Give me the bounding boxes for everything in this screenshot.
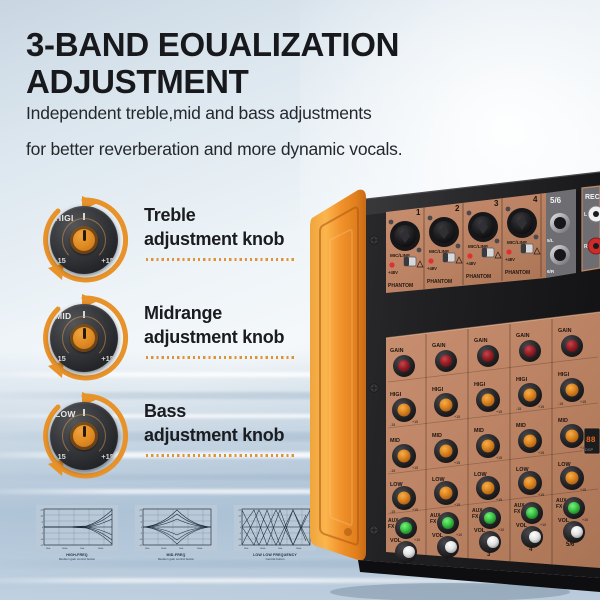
svg-text:5/6: 5/6 — [566, 542, 575, 548]
treble-knob[interactable]: HIGI -15 +15 — [50, 206, 118, 274]
svg-text:3: 3 — [494, 199, 499, 208]
svg-text:10kHz: 10kHz — [197, 548, 202, 550]
treble-knob-min-label: -15 — [55, 256, 66, 265]
svg-text:1kHz: 1kHz — [80, 548, 84, 550]
svg-text:10kHz: 10kHz — [98, 548, 103, 550]
svg-text:-10: -10 — [238, 539, 241, 541]
svg-text:1kHz: 1kHz — [179, 548, 183, 550]
eq-figure-high-caption1: HIGH-FREQ — [36, 553, 118, 557]
mixer-illustration: 1 2 3 4 MIC/LINE MIC/LINE MIC/LINE MIC/L… — [300, 160, 600, 600]
mixer-stereo-label: 5/6 — [550, 196, 562, 205]
svg-text:MID: MID — [516, 423, 526, 429]
svg-text:FX: FX — [388, 524, 395, 530]
svg-text:+15: +15 — [496, 456, 502, 460]
eq-chart-high: +15 +10 +5 0 -5 -10 -15 20Hz 100Hz 1kHz … — [36, 505, 118, 551]
callout-bass-label-line2: adjustment knob — [144, 424, 319, 448]
svg-text:+48V: +48V — [505, 257, 515, 262]
svg-text:+15: +15 — [496, 498, 502, 502]
svg-text:-10: -10 — [40, 539, 43, 541]
bass-knob-illustration: LOW -15 +15 — [36, 388, 132, 484]
bass-knob[interactable]: LOW -15 +15 — [50, 402, 118, 470]
svg-text:HIGI: HIGI — [474, 382, 486, 388]
callout-bass-label: Bass adjustment knob — [144, 400, 319, 448]
eq-figure-high-caption2: Medium gain control button — [36, 557, 118, 561]
svg-text:88: 88 — [586, 436, 596, 445]
svg-text:100Hz: 100Hz — [161, 548, 167, 550]
svg-text:-15: -15 — [390, 469, 395, 473]
svg-text:-5: -5 — [140, 533, 142, 535]
svg-text:+15: +15 — [580, 400, 586, 404]
callout-midrange: MID -15 +15 Midrange adjustment knob — [36, 290, 316, 386]
svg-text:+15: +15 — [40, 509, 43, 511]
eq-response-figures: +15 +10 +5 0 -5 -10 -15 20Hz 100Hz 1kHz … — [36, 505, 316, 573]
svg-text:PHANTOM: PHANTOM — [427, 279, 452, 285]
svg-text:+15: +15 — [580, 488, 586, 492]
callout-bass-label-line1: Bass — [144, 400, 319, 424]
svg-text:+10: +10 — [498, 528, 504, 532]
svg-text:+15: +15 — [496, 410, 502, 414]
mixer-rec-label: REC — [585, 194, 600, 201]
svg-text:6/R: 6/R — [547, 269, 555, 274]
callout-treble: HIGI -15 +15 Treble adjustment knob — [36, 192, 316, 288]
eq-figure-mid-caption2: Medium gain control button — [135, 557, 217, 561]
svg-text:PHANTOM: PHANTOM — [505, 270, 530, 276]
svg-text:L: L — [584, 212, 587, 218]
page-title: 3-BAND EOUALIZATION ADJUSTMENT — [26, 26, 496, 101]
svg-text:20Hz: 20Hz — [145, 548, 149, 550]
svg-text:4: 4 — [533, 195, 538, 204]
mixer-dsp-display: 88 DSP — [584, 428, 600, 454]
mixer-dsp-label: DSP — [585, 447, 594, 452]
svg-text:MID: MID — [432, 433, 442, 439]
svg-text:HIGI: HIGI — [432, 387, 444, 393]
svg-text:100Hz: 100Hz — [260, 548, 266, 550]
callout-midrange-label: Midrange adjustment knob — [144, 302, 319, 350]
svg-text:-15: -15 — [390, 510, 395, 514]
svg-text:MID: MID — [558, 418, 568, 424]
svg-text:FX: FX — [430, 519, 437, 525]
svg-text:-15: -15 — [139, 545, 142, 547]
svg-text:-5: -5 — [41, 533, 43, 535]
midrange-knob-min-label: -15 — [55, 354, 66, 363]
svg-text:+5: +5 — [239, 521, 241, 523]
svg-text:+10: +10 — [456, 533, 462, 537]
svg-text:+10: +10 — [414, 538, 420, 542]
svg-text:+10: +10 — [540, 523, 546, 527]
svg-text:HIGI: HIGI — [558, 372, 570, 378]
audio-mixer-product: 1 2 3 4 MIC/LINE MIC/LINE MIC/LINE MIC/L… — [300, 160, 600, 600]
svg-text:-15: -15 — [390, 423, 395, 427]
svg-text:+15: +15 — [454, 461, 460, 465]
svg-text:1kHz: 1kHz — [278, 548, 282, 550]
svg-text:+5: +5 — [41, 521, 43, 523]
eq-figure-mid-caption1: MID-FREQ — [135, 553, 217, 557]
bass-knob-max-label: +15 — [101, 452, 114, 461]
svg-text:0: 0 — [240, 527, 241, 529]
callout-bass-underline — [146, 454, 294, 457]
svg-text:+48V: +48V — [427, 266, 437, 271]
svg-text:+15: +15 — [412, 508, 418, 512]
svg-text:-5: -5 — [239, 533, 241, 535]
treble-knob-illustration: HIGI -15 +15 — [36, 192, 132, 288]
bass-knob-min-label: -15 — [55, 452, 66, 461]
subtitle-line-2: for better reverberation and more dynami… — [26, 139, 476, 160]
svg-text:+15: +15 — [454, 503, 460, 507]
midrange-knob[interactable]: MID -15 +15 — [50, 304, 118, 372]
svg-text:+15: +15 — [238, 509, 241, 511]
svg-text:+5: +5 — [140, 521, 142, 523]
svg-text:FX: FX — [514, 509, 521, 515]
promo-image-stage: 3-BAND EOUALIZATION ADJUSTMENT Independe… — [0, 0, 600, 600]
svg-text:GAIN: GAIN — [516, 333, 530, 339]
subtitle-line-1: Independent treble,mid and bass adjustme… — [26, 103, 466, 124]
svg-text:PHANTOM: PHANTOM — [466, 274, 491, 280]
svg-text:0: 0 — [42, 527, 43, 529]
svg-text:5/L: 5/L — [547, 238, 554, 243]
svg-text:PHANTOM: PHANTOM — [388, 283, 413, 289]
midrange-knob-band-label: MID — [55, 311, 71, 321]
callout-midrange-label-line2: adjustment knob — [144, 326, 319, 350]
callout-treble-underline — [146, 258, 294, 261]
svg-text:-15: -15 — [40, 545, 43, 547]
svg-text:MID: MID — [390, 438, 400, 444]
svg-text:HIGI: HIGI — [390, 392, 402, 398]
svg-text:-10: -10 — [139, 539, 142, 541]
svg-text:+15: +15 — [412, 466, 418, 470]
callout-treble-label-line2: adjustment knob — [144, 228, 319, 252]
svg-text:+15: +15 — [454, 415, 460, 419]
svg-text:-15: -15 — [238, 545, 241, 547]
midrange-knob-illustration: MID -15 +15 — [36, 290, 132, 386]
svg-text:GAIN: GAIN — [474, 338, 488, 344]
callout-midrange-label-line1: Midrange — [144, 302, 319, 326]
svg-text:+15: +15 — [538, 493, 544, 497]
eq-chart-mid: +15 +10 +5 0 -5 -10 -15 20Hz100Hz 1kHz10… — [135, 505, 217, 551]
eq-figure-mid: +15 +10 +5 0 -5 -10 -15 20Hz100Hz 1kHz10… — [135, 505, 217, 561]
svg-text:20Hz: 20Hz — [244, 548, 248, 550]
eq-figure-high: +15 +10 +5 0 -5 -10 -15 20Hz 100Hz 1kHz … — [36, 505, 118, 561]
svg-text:+10: +10 — [582, 518, 588, 522]
svg-text:+10: +10 — [238, 515, 241, 517]
bass-knob-cap — [70, 422, 98, 450]
callout-treble-label: Treble adjustment knob — [144, 204, 319, 252]
svg-text:-15: -15 — [558, 402, 563, 406]
treble-knob-cap — [70, 226, 98, 254]
svg-text:+10: +10 — [139, 515, 142, 517]
svg-text:MID: MID — [474, 428, 484, 434]
svg-text:-15: -15 — [516, 407, 521, 411]
svg-text:HIGI: HIGI — [516, 377, 528, 383]
callout-bass: LOW -15 +15 Bass adjustment knob — [36, 388, 316, 484]
svg-text:FX: FX — [472, 514, 479, 520]
svg-text:+15: +15 — [538, 451, 544, 455]
svg-text:+48V: +48V — [466, 261, 476, 266]
svg-text:0: 0 — [141, 527, 142, 529]
svg-text:+15: +15 — [139, 509, 142, 511]
svg-text:20Hz: 20Hz — [46, 548, 50, 550]
svg-text:+10: +10 — [40, 515, 43, 517]
svg-text:GAIN: GAIN — [390, 348, 404, 354]
svg-text:+48V: +48V — [388, 270, 398, 275]
midrange-knob-cap — [70, 324, 98, 352]
callout-treble-label-line1: Treble — [144, 204, 319, 228]
midrange-knob-max-label: +15 — [101, 354, 114, 363]
svg-text:FX: FX — [556, 504, 563, 510]
svg-text:R: R — [584, 244, 588, 250]
svg-text:GAIN: GAIN — [432, 343, 446, 349]
svg-text:+15: +15 — [538, 405, 544, 409]
svg-text:+15: +15 — [412, 420, 418, 424]
svg-text:1: 1 — [416, 208, 421, 217]
callout-midrange-underline — [146, 356, 294, 359]
svg-text:100Hz: 100Hz — [62, 548, 68, 550]
svg-text:GAIN: GAIN — [558, 328, 572, 334]
svg-text:2: 2 — [455, 204, 460, 213]
treble-knob-max-label: +15 — [101, 256, 114, 265]
